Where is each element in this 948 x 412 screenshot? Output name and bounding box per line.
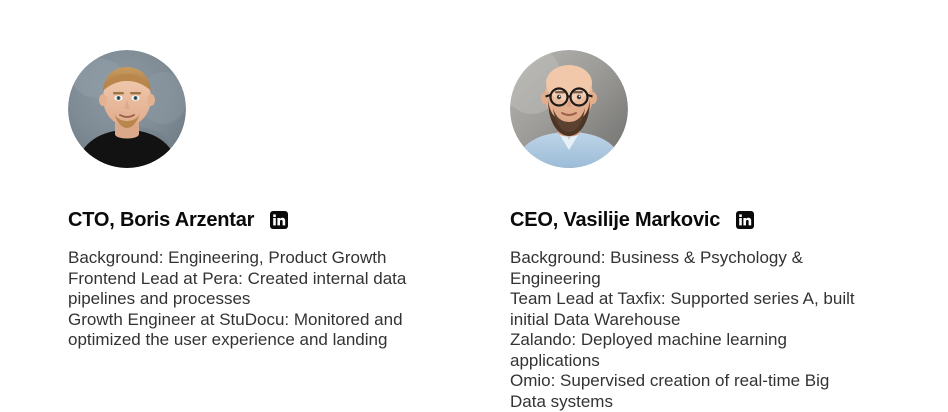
profile-card-cto: CTO, Boris Arzentar Background: Engineer… bbox=[0, 0, 442, 412]
profile-card-ceo: CEO, Vasilije Markovic Background: Busin… bbox=[442, 0, 884, 412]
bio-line: Omio: Supervised creation of real-time B… bbox=[510, 371, 865, 412]
bio-line: Zalando: Deployed machine learning appli… bbox=[510, 330, 865, 371]
person-name: CTO, Boris Arzentar bbox=[68, 208, 254, 232]
bio-line: Growth Engineer at StuDocu: Monitored an… bbox=[68, 310, 418, 351]
person-name: CEO, Vasilije Markovic bbox=[510, 208, 720, 232]
bio-line: Background: Business & Psychology & Engi… bbox=[510, 248, 865, 289]
profile-name-row: CTO, Boris Arzentar bbox=[68, 208, 442, 232]
avatar bbox=[510, 50, 628, 168]
profile-bio: Background: Engineering, Product Growth … bbox=[68, 248, 418, 351]
team-profiles-grid: CTO, Boris Arzentar Background: Engineer… bbox=[0, 0, 948, 412]
profile-name-row: CEO, Vasilije Markovic bbox=[510, 208, 884, 232]
linkedin-icon[interactable] bbox=[736, 211, 754, 229]
bio-line: Team Lead at Taxfix: Supported series A,… bbox=[510, 289, 865, 330]
linkedin-link[interactable] bbox=[270, 211, 288, 229]
linkedin-icon[interactable] bbox=[270, 211, 288, 229]
bio-line: Background: Engineering, Product Growth bbox=[68, 248, 418, 269]
profile-bio: Background: Business & Psychology & Engi… bbox=[510, 248, 865, 412]
bio-line: Frontend Lead at Pera: Created internal … bbox=[68, 269, 418, 310]
linkedin-link[interactable] bbox=[736, 211, 754, 229]
avatar bbox=[68, 50, 186, 168]
